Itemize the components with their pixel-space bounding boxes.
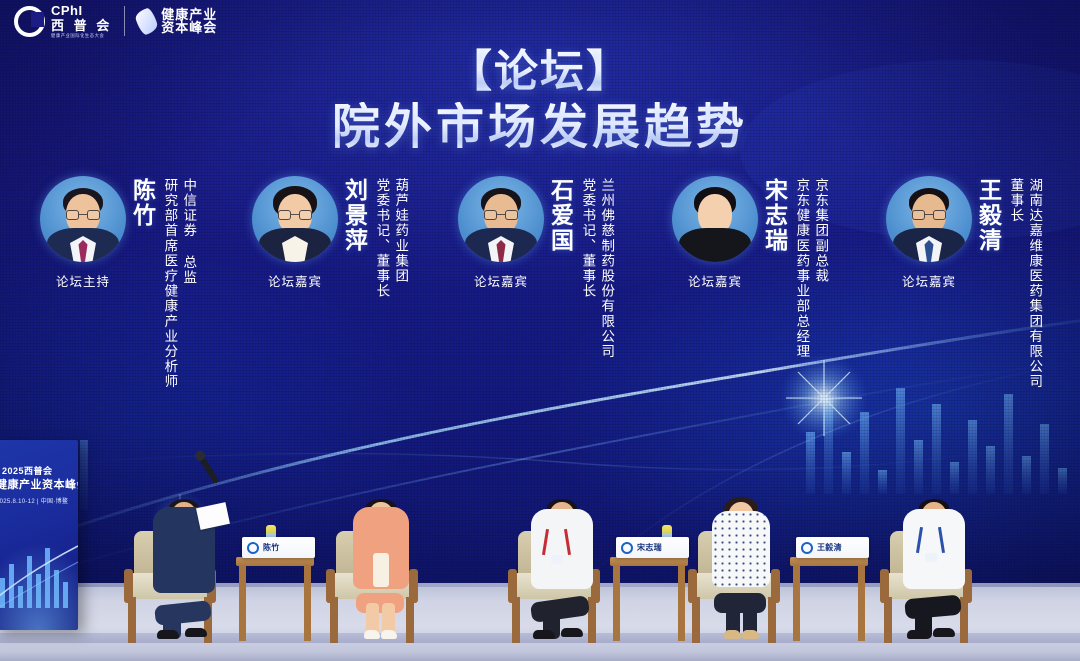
cphi-ring-icon [14, 6, 45, 37]
panelist-avatar-1 [40, 176, 126, 262]
lanyard-3 [542, 529, 570, 559]
panelist-org-2-1: 党委书记、董事长 [373, 178, 389, 299]
panelist-avatar-2 [252, 176, 338, 262]
panelist-title-4: 京东集团副总裁 京东健康医药事业部总经理 [790, 178, 828, 359]
panelist-name-1: 陈竹 [130, 178, 153, 228]
summit-line-1: 健康产业 [161, 8, 217, 22]
panelist-title-1: 中信证券 总监 研究部首席医疗健康产业分析师 [158, 178, 196, 389]
logo-bar: CPhI 西 普 会 健康产业国际化生态大会 健康产业 资本峰会 [14, 4, 217, 39]
plate-logo-icon-1 [247, 542, 259, 554]
summit-line-2: 资本峰会 [161, 21, 217, 35]
panelist-org-1-0: 中信证券 总监 [180, 178, 196, 285]
conference-stage-photo: CPhI 西 普 会 健康产业国际化生态大会 健康产业 资本峰会 【论坛】 院外… [0, 0, 1080, 661]
seated-person-5 [868, 407, 998, 645]
forum-title: 【论坛】 院外市场发展趋势 [0, 48, 1080, 153]
plate-name-text-1: 陈竹 [263, 542, 280, 553]
panelist-card-4: 论坛嘉宾 宋志瑞 京东集团副总裁 京东健康医药事业部总经理 [672, 176, 828, 359]
panelist-avatar-4 [672, 176, 758, 262]
seated-person-3 [498, 407, 628, 645]
seated-person-4 [680, 407, 800, 645]
seated-person-2 [320, 407, 440, 645]
side-table-1: 陈竹 [236, 557, 314, 641]
panelist-card-5: 论坛嘉宾 王毅清 湖南达嘉维康医药集团有限公司 董事长 [886, 176, 1042, 389]
leaf-icon [137, 9, 156, 34]
person-body-5 [894, 413, 974, 645]
panelist-name-4: 宋志瑞 [762, 178, 785, 253]
panelist-org-5-1: 董事长 [1007, 178, 1023, 223]
panelist-name-2: 刘景萍 [342, 178, 365, 253]
panelist-role-2: 论坛嘉宾 [268, 271, 322, 290]
panelist-org-2-0: 葫芦娃药业集团 [392, 178, 408, 284]
panelist-title-3: 兰州佛慈制药股份有限公司 党委书记、董事长 [576, 178, 614, 359]
seated-person-1 [120, 407, 250, 645]
logo-divider [124, 6, 125, 36]
side-table-2: 宋志瑞 [610, 557, 688, 641]
panelist-title-2: 葫芦娃药业集团 党委书记、董事长 [370, 178, 408, 299]
cphi-logo: CPhI 西 普 会 健康产业国际化生态大会 [14, 4, 112, 39]
side-table-3: 王毅清 [790, 557, 868, 641]
person-body-1 [144, 413, 224, 645]
plate-logo-icon-2 [621, 542, 633, 554]
panelist-role-3: 论坛嘉宾 [474, 271, 528, 290]
podium-banner: 2025西普会 健康产业资本峰会 2025.8.10-12 | 中国·博鳌 [0, 440, 78, 630]
podium-line-2: 健康产业资本峰会 [0, 476, 78, 492]
cphi-brand-text: CPhI [51, 4, 112, 17]
name-plate-3: 王毅清 [796, 537, 869, 558]
panelist-org-4-0: 京东集团副总裁 [812, 178, 828, 284]
panelist-name-5: 王毅清 [976, 178, 999, 253]
panelist-org-4-1: 京东健康医药事业部总经理 [793, 178, 809, 359]
panelist-avatar-5 [886, 176, 972, 262]
panelist-card-3: 论坛嘉宾 石爱国 兰州佛慈制药股份有限公司 党委书记、董事长 [458, 176, 614, 359]
panelist-org-3-1: 党委书记、董事长 [579, 178, 595, 299]
summit-logo: 健康产业 资本峰会 [137, 8, 217, 35]
panelist-card-row: 论坛主持 陈竹 中信证券 总监 研究部首席医疗健康产业分析师 论坛嘉宾 刘景萍 [0, 176, 1080, 426]
name-plate-2: 宋志瑞 [616, 537, 689, 558]
panelist-org-1-1: 研究部首席医疗健康产业分析师 [161, 178, 177, 389]
person-body-2 [344, 413, 418, 645]
name-plate-1: 陈竹 [242, 537, 315, 558]
panelist-role-5: 论坛嘉宾 [902, 271, 956, 290]
plate-name-text-2: 宋志瑞 [637, 542, 662, 553]
panelist-avatar-3 [458, 176, 544, 262]
cphi-name-cn: 西 普 会 [51, 19, 112, 32]
title-line-1: 【论坛】 [0, 48, 1080, 96]
plate-logo-icon-3 [801, 542, 813, 554]
cphi-tagline: 健康产业国际化生态大会 [51, 34, 109, 38]
panelist-role-1: 论坛主持 [56, 271, 110, 290]
panelist-card-1: 论坛主持 陈竹 中信证券 总监 研究部首席医疗健康产业分析师 [40, 176, 196, 389]
title-line-2: 院外市场发展趋势 [0, 102, 1080, 154]
lanyard-5 [916, 527, 944, 557]
panelist-title-5: 湖南达嘉维康医药集团有限公司 董事长 [1004, 178, 1042, 389]
panelist-org-5-0: 湖南达嘉维康医药集团有限公司 [1026, 178, 1042, 389]
person-body-3 [522, 413, 602, 645]
panelist-org-3-0: 兰州佛慈制药股份有限公司 [598, 178, 614, 359]
panelist-card-2: 论坛嘉宾 刘景萍 葫芦娃药业集团 党委书记、董事长 [252, 176, 408, 299]
seated-panelists: 陈竹 [0, 400, 1080, 645]
podium-date: 2025.8.10-12 | 中国·博鳌 [0, 496, 68, 505]
person-body-4 [704, 413, 778, 645]
documents-1 [196, 502, 230, 530]
panelist-name-3: 石爱国 [548, 178, 571, 253]
plate-name-text-3: 王毅清 [817, 542, 842, 553]
panelist-role-4: 论坛嘉宾 [688, 271, 742, 290]
